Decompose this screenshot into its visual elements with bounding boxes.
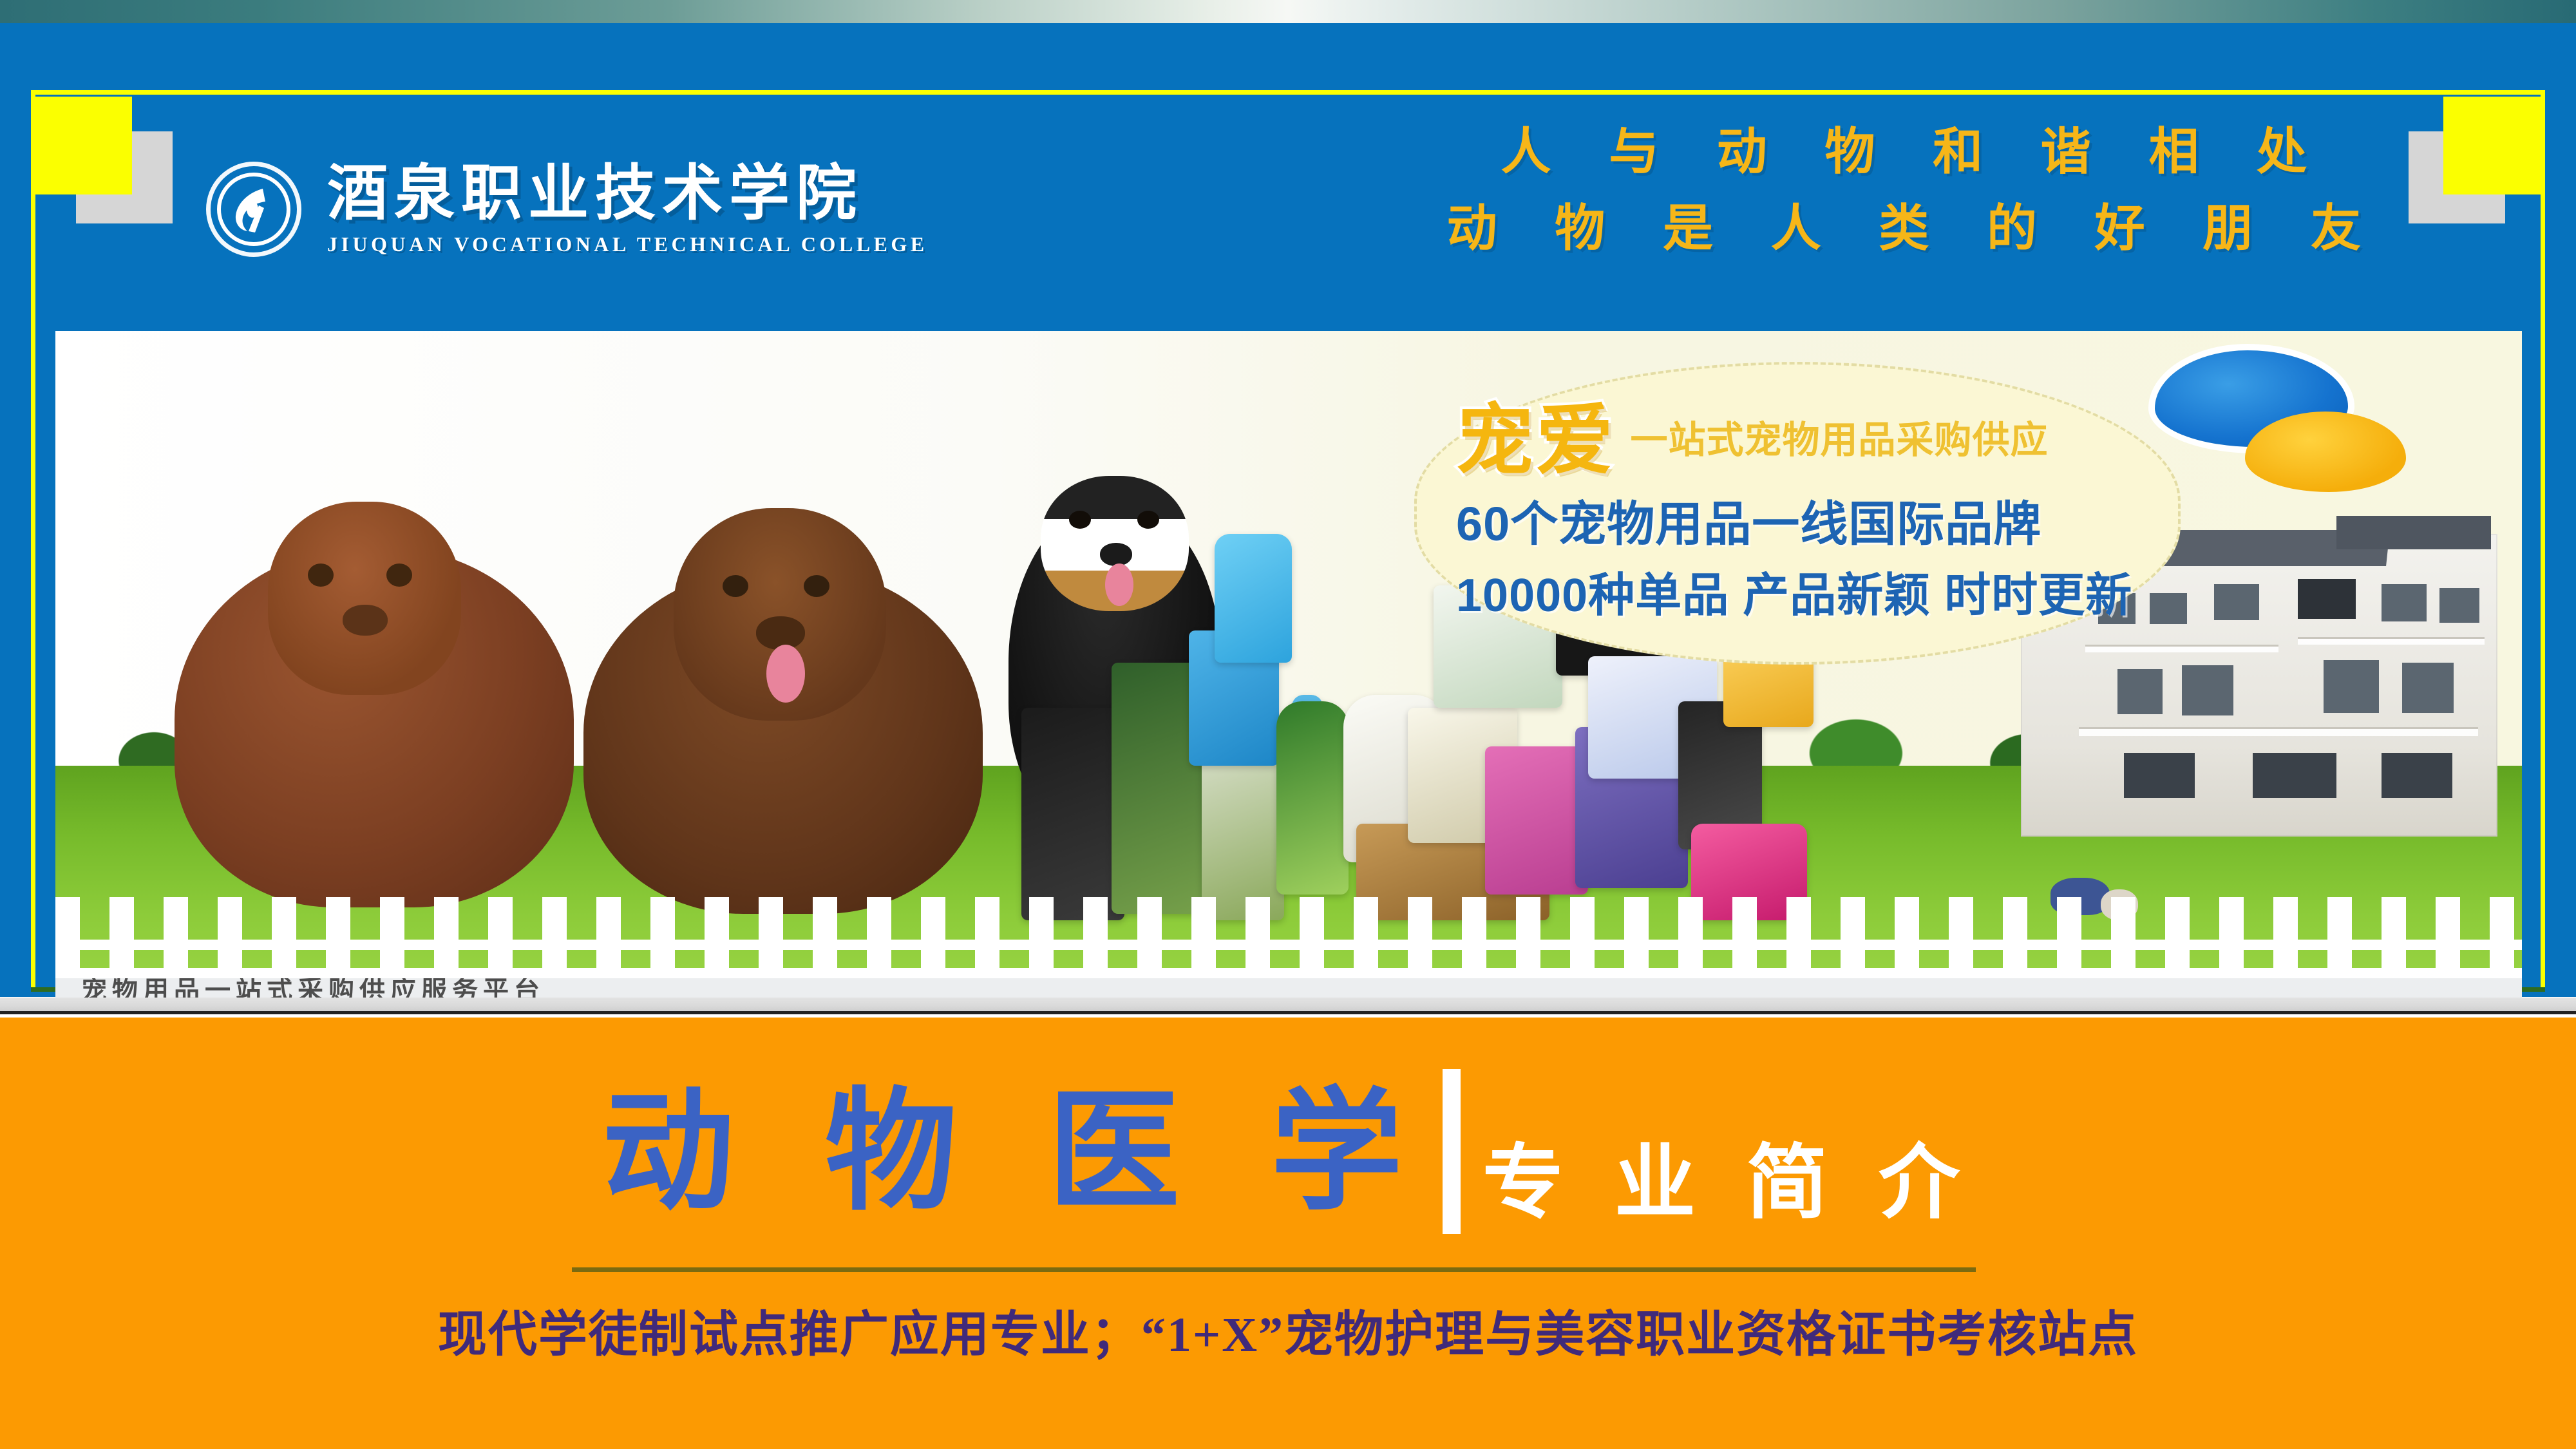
brown-newfoundland-dog-head	[674, 508, 886, 721]
frame-line-left	[31, 90, 35, 992]
college-name-en: JIUQUAN VOCATIONAL TECHNICAL COLLEGE	[327, 232, 928, 256]
slogan-line-1: 人 与 动 物 和 谐 相 处	[1447, 113, 2383, 190]
fence-rail-upper	[55, 940, 2522, 950]
corner-decoration-yellow-top-left	[32, 97, 132, 194]
page-title: 动 物 医 学	[602, 1086, 1443, 1218]
page-description: 现代学徒制试点推广应用专业；“1+X”宠物护理与美容职业资格证书考核站点	[0, 1294, 2576, 1365]
banner-cut-caption-text: 宠物用品一站式采购供应服务平台	[55, 978, 2522, 998]
dog-tongue	[766, 645, 805, 703]
slogan-block: 人 与 动 物 和 谐 相 处 动 物 是 人 类 的 好 朋 友	[1447, 113, 2383, 266]
page-subtitle-label: 专 业 简 介	[1482, 1142, 1974, 1224]
college-name-cn: 酒泉职业技术学院	[327, 162, 928, 226]
college-logo: 酒泉职业技术学院 JIUQUAN VOCATIONAL TECHNICAL CO…	[206, 162, 928, 257]
frame-line-top	[31, 90, 2545, 95]
top-metallic-strip	[0, 0, 2576, 23]
panel-separator-strip	[0, 998, 2576, 1014]
corner-decoration-yellow-top-right	[2443, 97, 2545, 194]
seal-swoosh-icon	[229, 186, 276, 234]
white-picket-fence	[55, 897, 2522, 980]
title-row: 动 物 医 学 专 业 简 介	[0, 1069, 2576, 1234]
slogan-line-2: 动 物 是 人 类 的 好 朋 友	[1447, 190, 2383, 267]
promo-hero-subtext: 一站式宠物用品采购供应	[1630, 410, 2048, 464]
college-seal-icon	[206, 162, 301, 257]
frame-line-right	[2541, 90, 2545, 992]
brown-mastiff-dog-head	[268, 502, 461, 695]
promo-hero-text: 宠爱	[1456, 402, 1616, 479]
title-separator-bar	[1443, 1069, 1461, 1234]
banner-cut-caption: 宠物用品一站式采购供应服务平台	[55, 978, 2522, 998]
fence-rail-lower	[55, 968, 2522, 978]
promo-line-3: 10000种单品 产品新颖 时时更新	[1456, 557, 2171, 625]
presentation-slide: 酒泉职业技术学院 JIUQUAN VOCATIONAL TECHNICAL CO…	[0, 0, 2576, 1449]
header-blue-panel: 酒泉职业技术学院 JIUQUAN VOCATIONAL TECHNICAL CO…	[0, 23, 2576, 997]
promo-line-2: 60个宠物用品一线国际品牌	[1456, 486, 2171, 554]
title-divider-line	[572, 1267, 1976, 1272]
promo-text-block: 宠爱 一站式宠物用品采购供应 60个宠物用品一线国际品牌 10000种单品 产品…	[1456, 402, 2171, 625]
footer-orange-panel: 动 物 医 学 专 业 简 介 现代学徒制试点推广应用专业；“1+X”宠物护理与…	[0, 1018, 2576, 1449]
banner-image: 宠爱 一站式宠物用品采购供应 60个宠物用品一线国际品牌 10000种单品 产品…	[55, 331, 2522, 998]
